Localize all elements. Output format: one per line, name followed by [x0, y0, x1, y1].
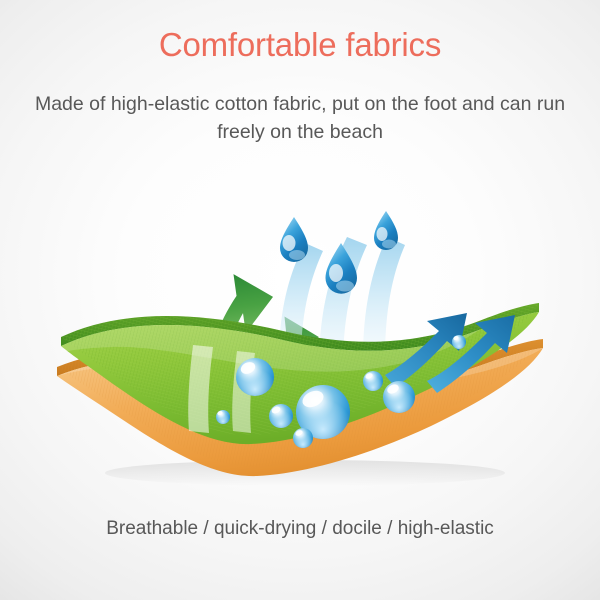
- water-droplet: [236, 358, 274, 396]
- water-droplet: [269, 404, 293, 428]
- water-droplet: [363, 371, 383, 391]
- water-droplet: [216, 410, 230, 424]
- page-subtitle: Made of high-elastic cotton fabric, put …: [28, 90, 572, 146]
- vapour-droplet: [280, 217, 308, 262]
- feature-list-text: Breathable / quick-drying / docile / hig…: [0, 518, 600, 540]
- fabric-illustration: [55, 185, 545, 490]
- vapour-droplet: [374, 211, 398, 250]
- water-droplet: [452, 335, 466, 349]
- product-feature-panel: Comfortable fabrics Made of high-elastic…: [0, 0, 600, 600]
- page-title: Comfortable fabrics: [0, 26, 600, 64]
- water-droplet: [293, 428, 313, 448]
- water-droplet: [383, 381, 415, 413]
